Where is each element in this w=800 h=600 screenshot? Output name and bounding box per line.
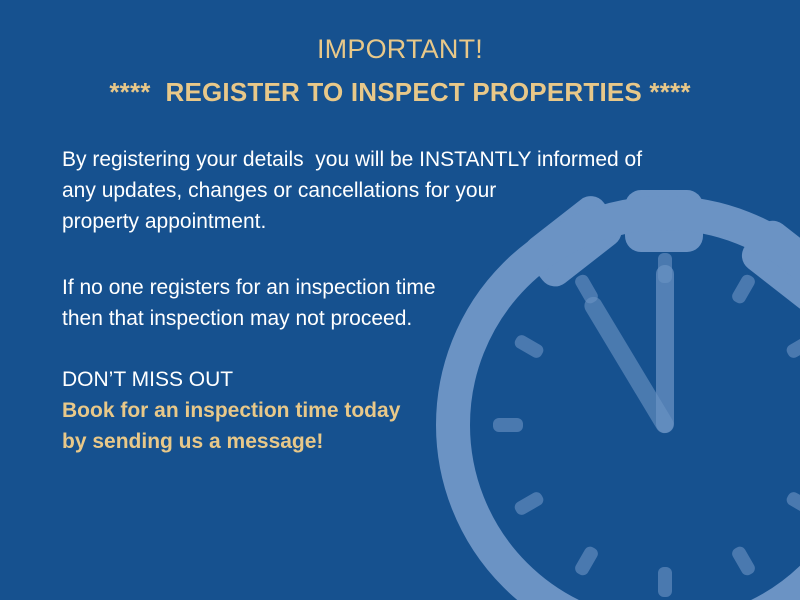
slide-content: IMPORTANT! **** REGISTER TO INSPECT PROP… (0, 0, 800, 600)
paragraph-line: any updates, changes or cancellations fo… (62, 175, 742, 206)
paragraph-line: If no one registers for an inspection ti… (62, 272, 742, 303)
paragraph-registering: By registering your details you will be … (62, 144, 742, 237)
cta-send-message: by sending us a message! (62, 426, 742, 457)
paragraph-line: By registering your details you will be … (62, 144, 742, 175)
paragraph-no-registration: If no one registers for an inspection ti… (62, 272, 742, 334)
cta-dont-miss-out: DON’T MISS OUT (62, 364, 742, 395)
page-subtitle: **** REGISTER TO INSPECT PROPERTIES **** (0, 75, 800, 109)
paragraph-line: property appointment. (62, 206, 742, 237)
paragraph-line: then that inspection may not proceed. (62, 303, 742, 334)
cta-book-inspection: Book for an inspection time today (62, 395, 742, 426)
headline-block: IMPORTANT! **** REGISTER TO INSPECT PROP… (0, 32, 800, 109)
call-to-action-block: DON’T MISS OUT Book for an inspection ti… (62, 364, 742, 457)
page-title: IMPORTANT! (0, 32, 800, 66)
slide-canvas: IMPORTANT! **** REGISTER TO INSPECT PROP… (0, 0, 800, 600)
